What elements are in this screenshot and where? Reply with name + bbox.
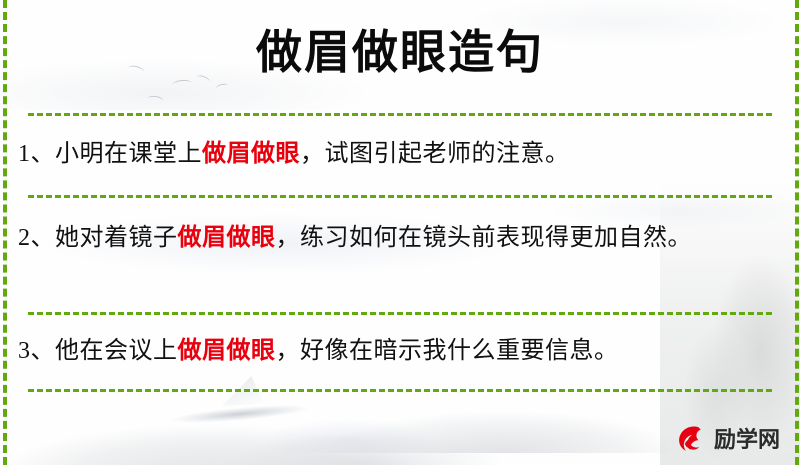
example-sentence-2: 2、她对着镜子做眉做眼，练习如何在镜头前表现得更加自然。: [18, 217, 758, 259]
worksheet-page: 做眉做眼造句 1、小明在课堂上做眉做眼，试图引起老师的注意。 2、她对着镜子做眉…: [0, 0, 800, 465]
sentence-before-3: 他在会议上: [55, 338, 178, 364]
sentence-after-3: ，好像在暗示我什么重要信息。: [276, 338, 619, 364]
dashed-border-right: [795, 0, 799, 465]
site-logo-text: 励学网: [714, 422, 780, 454]
sentence-after-2: ，练习如何在镜头前表现得更加自然。: [276, 225, 693, 251]
sentence-before-1: 小明在课堂上: [55, 141, 202, 167]
sentence-index-2: 2、: [18, 225, 55, 251]
content-area: 做眉做眼造句 1、小明在课堂上做眉做眼，试图引起老师的注意。 2、她对着镜子做眉…: [0, 0, 800, 465]
keyword-highlight-1: 做眉做眼: [202, 141, 300, 167]
flame-swirl-icon: [672, 420, 708, 456]
dashed-separator: [28, 312, 772, 315]
dashed-separator: [28, 195, 772, 198]
sentence-index-3: 3、: [18, 338, 55, 364]
sentence-after-1: ，试图引起老师的注意。: [300, 141, 570, 167]
keyword-highlight-2: 做眉做眼: [178, 225, 276, 251]
sentence-index-1: 1、: [18, 141, 55, 167]
sentence-before-2: 她对着镜子: [55, 225, 178, 251]
example-sentence-3: 3、他在会议上做眉做眼，好像在暗示我什么重要信息。: [18, 330, 758, 372]
dashed-separator: [28, 113, 772, 116]
keyword-highlight-3: 做眉做眼: [178, 338, 276, 364]
dashed-separator: [28, 389, 772, 392]
site-logo[interactable]: 励学网: [672, 418, 780, 458]
page-title: 做眉做眼造句: [0, 22, 800, 82]
dashed-border-left: [3, 0, 7, 465]
example-sentence-1: 1、小明在课堂上做眉做眼，试图引起老师的注意。: [18, 133, 758, 175]
